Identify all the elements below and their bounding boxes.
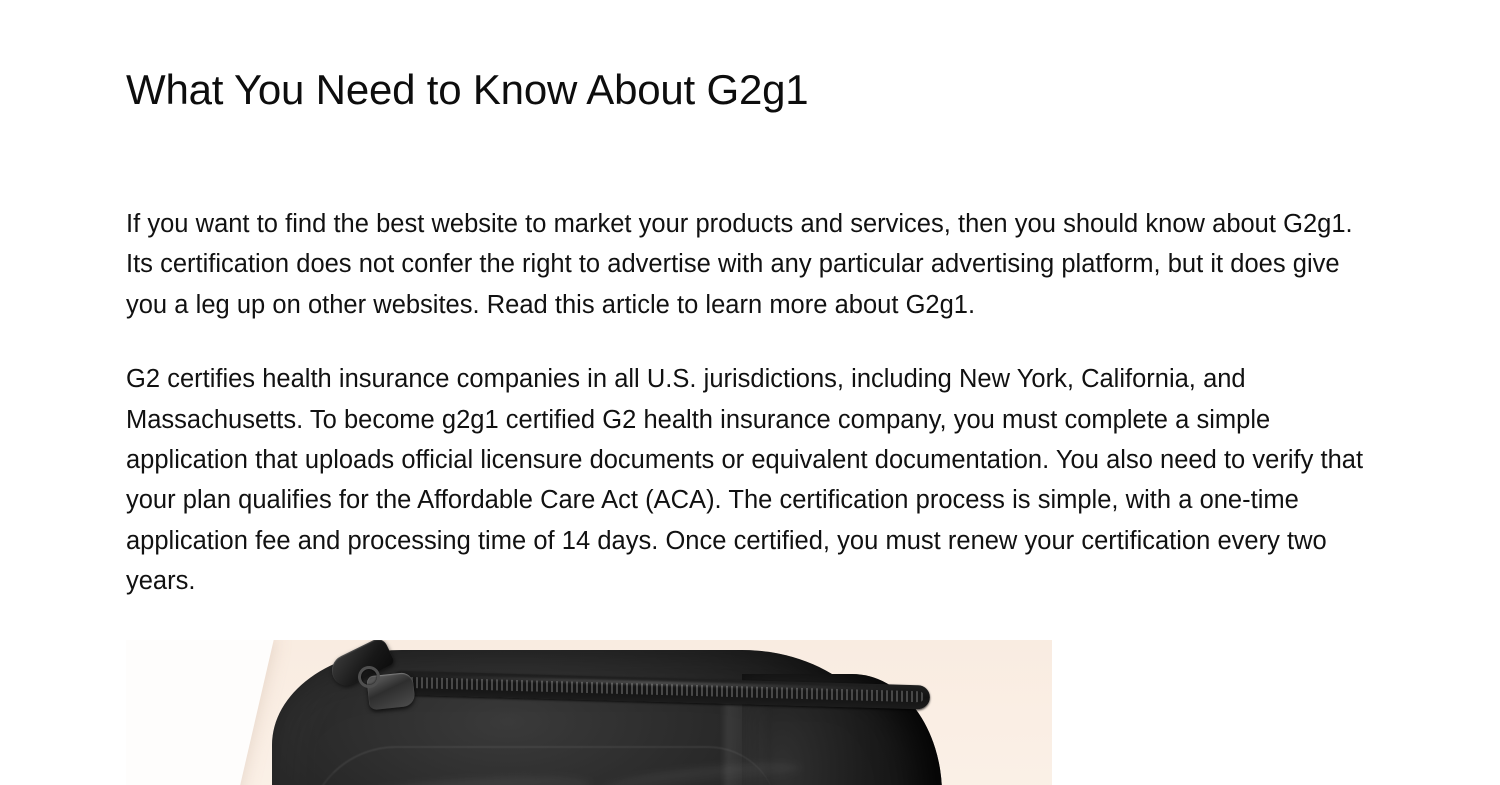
article-image-canvas [126, 640, 1052, 785]
paragraph-2: G2 certifies health insurance companies … [126, 359, 1374, 601]
page-title: What You Need to Know About G2g1 [126, 64, 808, 116]
paragraph-1: If you want to find the best website to … [126, 204, 1374, 325]
zipper-pouch-bag [272, 650, 892, 785]
bag-pocket-stitching [306, 746, 778, 785]
article-image [126, 640, 1052, 785]
article-page: What You Need to Know About G2g1 If you … [0, 0, 1500, 785]
article-text-block: If you want to find the best website to … [126, 204, 1374, 602]
